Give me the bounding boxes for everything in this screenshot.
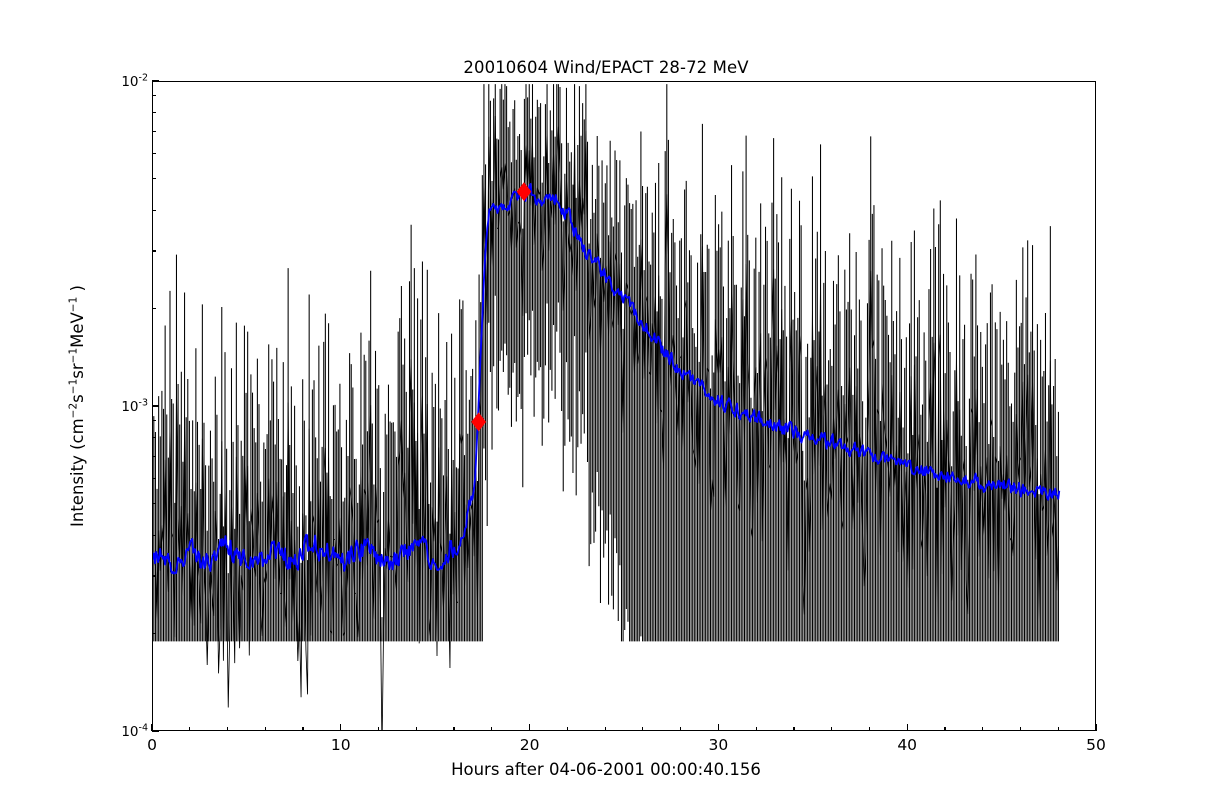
y-tick-exponent: -2 — [139, 72, 148, 83]
x-minor-tick — [982, 727, 983, 731]
x-minor-tick — [605, 727, 606, 731]
y-tick-mark — [152, 730, 159, 731]
x-tick-mark — [529, 724, 530, 731]
data-area — [153, 82, 1095, 730]
x-minor-tick — [793, 727, 794, 731]
y-label-lead: Intensity (cm — [68, 418, 87, 527]
y-minor-tick — [152, 131, 156, 132]
y-axis-label: Intensity (cm−2s−1sr−1MeV−1 ) — [67, 285, 87, 527]
x-minor-tick — [1020, 727, 1021, 731]
y-minor-tick — [152, 456, 156, 457]
y-minor-tick — [152, 575, 156, 576]
figure-canvas: 20010604 Wind/EPACT 28-72 MeV 0102030405… — [0, 0, 1212, 812]
y-tick-mark — [152, 405, 159, 406]
x-tick-label: 20 — [520, 736, 540, 754]
x-minor-tick — [302, 727, 303, 731]
x-minor-tick — [491, 727, 492, 731]
y-minor-tick — [152, 633, 156, 634]
x-tick-mark — [340, 724, 341, 731]
x-minor-tick — [416, 727, 417, 731]
y-tick-mark — [152, 80, 159, 81]
x-minor-tick — [453, 727, 454, 731]
y-minor-tick — [152, 112, 156, 113]
x-minor-tick — [944, 727, 945, 731]
y-minor-tick — [152, 437, 156, 438]
y-tick-label: 10-3 — [121, 397, 148, 415]
x-minor-tick — [756, 727, 757, 731]
y-axis-label-holder: Intensity (cm−2s−1sr−1MeV−1 ) — [62, 0, 92, 812]
x-minor-tick — [869, 727, 870, 731]
y-label-exp-mev: −1 — [67, 297, 79, 312]
x-minor-tick — [227, 727, 228, 731]
x-tick-label: 0 — [147, 736, 157, 754]
y-minor-tick — [152, 503, 156, 504]
x-tick-label: 10 — [331, 736, 351, 754]
y-tick-exponent: -3 — [139, 397, 148, 408]
error-bars-group — [154, 84, 1059, 730]
y-minor-tick — [152, 420, 156, 421]
y-minor-tick — [152, 153, 156, 154]
x-minor-tick — [265, 727, 266, 731]
plot-title: 20010604 Wind/EPACT 28-72 MeV — [0, 58, 1212, 77]
y-tick-label: 10-4 — [121, 722, 148, 740]
y-minor-tick — [152, 478, 156, 479]
plot-axes — [152, 81, 1096, 731]
x-minor-tick — [1058, 727, 1059, 731]
y-label-tail: ) — [68, 285, 87, 297]
x-tick-label: 40 — [897, 736, 917, 754]
y-minor-tick — [152, 308, 156, 309]
x-tick-mark — [718, 724, 719, 731]
data-series-svg — [153, 82, 1095, 730]
x-minor-tick — [831, 727, 832, 731]
y-label-exp-s: −1 — [67, 379, 79, 394]
y-minor-tick — [152, 250, 156, 251]
x-tick-label: 30 — [709, 736, 729, 754]
y-label-sr: sr — [68, 363, 87, 378]
y-minor-tick — [152, 535, 156, 536]
x-minor-tick — [189, 727, 190, 731]
x-minor-tick — [642, 727, 643, 731]
y-tick-mantissa: 10 — [121, 399, 138, 415]
y-tick-label: 10-2 — [121, 72, 148, 90]
y-minor-tick — [152, 95, 156, 96]
x-tick-mark — [907, 724, 908, 731]
x-minor-tick — [680, 727, 681, 731]
y-label-s: s — [68, 394, 87, 403]
x-tick-mark — [1095, 724, 1096, 731]
x-tick-label: 50 — [1086, 736, 1106, 754]
y-tick-mantissa: 10 — [121, 724, 138, 740]
y-minor-tick — [152, 178, 156, 179]
y-tick-exponent: -4 — [139, 722, 148, 733]
x-minor-tick — [378, 727, 379, 731]
y-label-mev: MeV — [68, 312, 87, 348]
y-label-exp-sr: −1 — [67, 348, 79, 363]
y-tick-mantissa: 10 — [121, 74, 138, 90]
y-minor-tick — [152, 210, 156, 211]
x-axis-label: Hours after 04-06-2001 00:00:40.156 — [0, 760, 1212, 779]
y-label-exp-cm: −2 — [67, 403, 79, 418]
x-minor-tick — [567, 727, 568, 731]
